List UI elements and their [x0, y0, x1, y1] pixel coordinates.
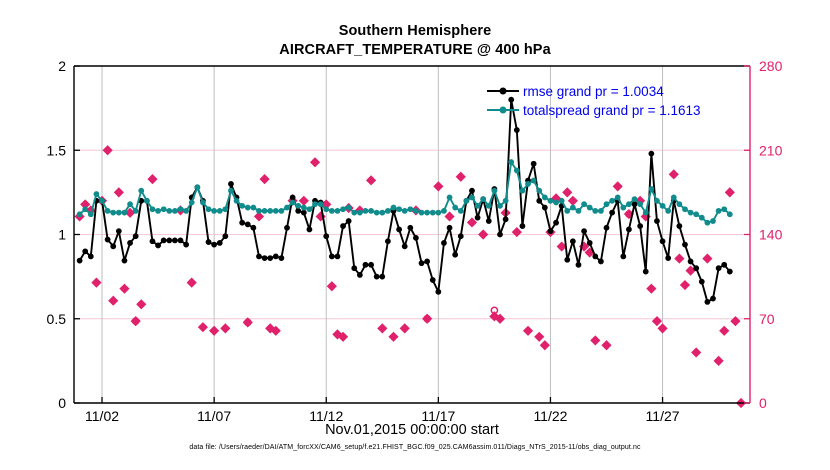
y-tick-label-right: 210 — [759, 142, 783, 158]
series-point-rmse — [514, 127, 519, 132]
series-point-rmse — [688, 259, 693, 264]
series-point-totalspread — [464, 198, 469, 203]
series-point-rmse — [385, 239, 390, 244]
series-point-rmse — [632, 202, 637, 207]
series-point-totalspread — [139, 188, 144, 193]
series-point-totalspread — [122, 210, 127, 215]
obs-marker-assimilated — [120, 285, 128, 293]
series-point-rmse — [666, 255, 671, 260]
series-point-totalspread — [514, 168, 519, 173]
series-point-totalspread — [660, 203, 665, 208]
series-point-rmse — [368, 262, 373, 267]
series-point-totalspread — [228, 188, 233, 193]
series-point-rmse — [340, 223, 345, 228]
series-point-totalspread — [335, 208, 340, 213]
series-point-totalspread — [178, 207, 183, 212]
series-point-totalspread — [576, 208, 581, 213]
series-point-rmse — [581, 229, 586, 234]
series-point-rmse — [553, 220, 558, 225]
series-point-rmse — [127, 240, 132, 245]
series-point-totalspread — [240, 203, 245, 208]
series-point-totalspread — [284, 205, 289, 210]
grid-horizontal — [74, 150, 750, 319]
series-point-totalspread — [419, 210, 424, 215]
series-point-rmse — [122, 258, 127, 263]
obs-marker-assimilated — [378, 324, 386, 332]
series-point-rmse — [576, 262, 581, 267]
x-tick-label: 11/22 — [533, 408, 567, 424]
obs-marker-assimilated — [675, 254, 683, 262]
series-point-rmse — [548, 229, 553, 234]
series-point-totalspread — [475, 203, 480, 208]
series-point-totalspread — [458, 208, 463, 213]
legend: rmse grand pr = 1.0034totalspread grand … — [487, 84, 701, 118]
series-point-rmse — [245, 222, 250, 227]
series-point-rmse — [296, 208, 301, 213]
series-point-rmse — [419, 261, 424, 266]
obs-marker-assimilated — [670, 170, 678, 178]
series-point-totalspread — [195, 185, 200, 190]
obs-marker-assimilated — [569, 197, 577, 205]
obs-marker-assimilated — [311, 158, 319, 166]
series-point-rmse — [654, 218, 659, 223]
series-point-totalspread — [318, 202, 323, 207]
legend-item[interactable]: totalspread grand pr = 1.1613 — [487, 103, 701, 118]
series-point-totalspread — [251, 205, 256, 210]
series-point-rmse — [212, 242, 217, 247]
obs-marker-assimilated — [199, 323, 207, 331]
obs-marker-assimilated — [389, 333, 397, 341]
series-point-totalspread — [324, 207, 329, 212]
y-tick-label-right: 280 — [759, 58, 783, 74]
series-point-totalspread — [212, 208, 217, 213]
series-point-totalspread — [200, 200, 205, 205]
series-point-totalspread — [301, 205, 306, 210]
obs-marker-assimilated — [479, 230, 487, 238]
series-point-totalspread — [441, 208, 446, 213]
series-point-rmse — [430, 277, 435, 282]
series-point-totalspread — [312, 202, 317, 207]
series-point-rmse — [397, 227, 402, 232]
series-point-rmse — [643, 269, 648, 274]
series-point-totalspread — [537, 188, 542, 193]
obs-marker-assimilated — [457, 173, 465, 181]
series-point-rmse — [256, 254, 261, 259]
series-point-rmse — [240, 220, 245, 225]
series-point-totalspread — [368, 208, 373, 213]
series-point-totalspread — [677, 202, 682, 207]
series-point-rmse — [83, 249, 88, 254]
series-point-totalspread — [155, 208, 160, 213]
obs-marker-assimilated — [92, 279, 100, 287]
series-point-totalspread — [217, 208, 222, 213]
series-point-rmse — [172, 238, 177, 243]
series-point-totalspread — [307, 207, 312, 212]
series-point-rmse — [570, 239, 575, 244]
y-tick-label-left: 2 — [58, 58, 66, 74]
series-point-rmse — [542, 205, 547, 210]
series-point-totalspread — [262, 208, 267, 213]
series-point-rmse — [503, 217, 508, 222]
series-point-rmse — [251, 225, 256, 230]
series-point-totalspread — [598, 208, 603, 213]
series-point-totalspread — [161, 207, 166, 212]
series-point-totalspread — [481, 197, 486, 202]
obs-marker-assimilated — [434, 182, 442, 190]
x-tick-label: 11/07 — [197, 408, 231, 424]
series-point-totalspread — [548, 198, 553, 203]
series-point-rmse — [520, 223, 525, 228]
series-point-rmse — [206, 239, 211, 244]
series-point-rmse — [408, 225, 413, 230]
legend-item[interactable]: rmse grand pr = 1.0034 — [487, 84, 664, 99]
series-point-rmse — [374, 274, 379, 279]
series-point-totalspread — [94, 191, 99, 196]
series-point-rmse — [604, 225, 609, 230]
y-tick-label-left: 0.5 — [47, 311, 67, 327]
obs-marker-assimilated — [445, 212, 453, 220]
series-point-rmse — [301, 210, 306, 215]
series-point-rmse — [727, 269, 732, 274]
series-point-rmse — [329, 254, 334, 259]
series-point-rmse — [262, 255, 267, 260]
series-point-rmse — [610, 210, 615, 215]
series-point-rmse — [593, 254, 598, 259]
series-point-totalspread — [105, 208, 110, 213]
series-point-totalspread — [469, 195, 474, 200]
obs-marker-assimilated — [658, 324, 666, 332]
series-point-totalspread — [626, 202, 631, 207]
series-point-totalspread — [497, 203, 502, 208]
x-tick-label: 11/17 — [421, 408, 455, 424]
obs-marker-assimilated — [558, 242, 566, 250]
series-point-totalspread — [671, 195, 676, 200]
series-point-rmse — [453, 252, 458, 257]
obs-marker-assimilated — [726, 188, 734, 196]
series-point-totalspread — [77, 212, 82, 217]
series-point-totalspread — [374, 210, 379, 215]
series-point-totalspread — [553, 200, 558, 205]
series-point-rmse — [486, 218, 491, 223]
series-point-totalspread — [694, 212, 699, 217]
obs-marker-assimilated — [591, 336, 599, 344]
series-point-totalspread — [699, 215, 704, 220]
series-point-totalspread — [621, 205, 626, 210]
series-point-rmse — [425, 259, 430, 264]
legend-swatch-marker — [500, 88, 506, 94]
series-point-totalspread — [296, 203, 301, 208]
series-point-rmse — [346, 218, 351, 223]
obs-marker-assimilated — [260, 175, 268, 183]
series-point-totalspread — [133, 208, 138, 213]
x-axis-ticks: 11/0211/0711/1211/1711/2211/27 — [85, 397, 680, 424]
series-point-totalspread — [83, 207, 88, 212]
series-point-totalspread — [654, 198, 659, 203]
series-point-totalspread — [447, 195, 452, 200]
obs-marker-assimilated — [221, 324, 229, 332]
series-point-rmse — [402, 244, 407, 249]
obs-marker-assimilated — [681, 281, 689, 289]
y-tick-label-left: 1.5 — [47, 142, 67, 158]
series-point-rmse — [537, 198, 542, 203]
series-point-rmse — [626, 227, 631, 232]
series-point-rmse — [660, 239, 665, 244]
series-point-rmse — [161, 238, 166, 243]
series-point-totalspread — [290, 200, 295, 205]
obs-marker-assimilated — [692, 348, 700, 356]
series-point-rmse — [357, 272, 362, 277]
obs-marker-assimilated — [104, 146, 112, 154]
series-point-rmse — [682, 242, 687, 247]
series-point-totalspread — [184, 208, 189, 213]
obs-marker-assimilated — [367, 176, 375, 184]
series-point-rmse — [699, 279, 704, 284]
series-point-rmse — [598, 259, 603, 264]
obs-marker-assimilated — [300, 197, 308, 205]
series-point-rmse — [380, 274, 385, 279]
obs-marker-assimilated — [137, 300, 145, 308]
series-point-rmse — [475, 215, 480, 220]
y-tick-label-right: 140 — [759, 227, 783, 243]
series-point-totalspread — [610, 198, 615, 203]
series-point-totalspread — [425, 210, 430, 215]
series-point-totalspread — [111, 210, 116, 215]
series-point-rmse — [705, 299, 710, 304]
series-point-rmse — [565, 257, 570, 262]
series-point-totalspread — [615, 195, 620, 200]
series-point-totalspread — [666, 208, 671, 213]
series-point-totalspread — [632, 197, 637, 202]
series-point-totalspread — [346, 205, 351, 210]
obs-marker-assimilated — [210, 327, 218, 335]
series-point-totalspread — [268, 208, 273, 213]
obs-marker-assimilated — [188, 279, 196, 287]
series-point-totalspread — [380, 210, 385, 215]
series-point-totalspread — [503, 198, 508, 203]
series-point-rmse — [284, 225, 289, 230]
x-tick-label: 11/02 — [85, 408, 119, 424]
y-tick-label-left: 0 — [58, 395, 66, 411]
series-point-rmse — [279, 255, 284, 260]
series-point-rmse — [324, 234, 329, 239]
series-point-totalspread — [408, 207, 413, 212]
series-point-totalspread — [688, 210, 693, 215]
series-point-totalspread — [722, 207, 727, 212]
series-point-totalspread — [329, 208, 334, 213]
series-point-totalspread — [245, 205, 250, 210]
obs-marker-assimilated — [148, 175, 156, 183]
series-point-rmse — [228, 181, 233, 186]
obs-marker-assimilated — [524, 327, 532, 335]
y-axis-ticks-left: 00.511.52 — [47, 58, 80, 411]
series-point-totalspread — [206, 207, 211, 212]
series-point-totalspread — [234, 198, 239, 203]
obs-assimilated-markers — [76, 146, 746, 407]
series-totalspread — [77, 159, 732, 225]
series-point-totalspread — [453, 205, 458, 210]
series-point-totalspread — [88, 212, 93, 217]
series-point-rmse — [649, 151, 654, 156]
obs-marker-assimilated — [715, 357, 723, 365]
series-point-totalspread — [525, 181, 530, 186]
series-point-totalspread — [430, 210, 435, 215]
series-point-rmse — [150, 239, 155, 244]
series-point-totalspread — [223, 207, 228, 212]
series-point-rmse — [77, 258, 82, 263]
series-point-rmse — [458, 234, 463, 239]
series-point-rmse — [638, 223, 643, 228]
series-point-rmse — [710, 296, 715, 301]
series-point-rmse — [352, 266, 357, 271]
obs-marker-assimilated — [109, 297, 117, 305]
series-point-rmse — [716, 266, 721, 271]
obs-marker-assimilated — [602, 341, 610, 349]
series-point-rmse — [290, 195, 295, 200]
series-point-rmse — [116, 229, 121, 234]
series-point-totalspread — [256, 208, 261, 213]
obs-marker-assimilated — [720, 327, 728, 335]
obs-marker-assimilated — [647, 285, 655, 293]
y-tick-label-left: 1 — [58, 227, 66, 243]
series-point-totalspread — [705, 220, 710, 225]
legend-label: totalspread grand pr = 1.1613 — [523, 103, 701, 118]
series-point-totalspread — [363, 208, 368, 213]
series-point-rmse — [178, 238, 183, 243]
obs-marker-assimilated — [535, 333, 543, 341]
series-point-totalspread — [486, 203, 491, 208]
series-point-totalspread — [604, 202, 609, 207]
obs-marker-assimilated — [563, 188, 571, 196]
series-point-rmse — [133, 234, 138, 239]
series-point-rmse — [167, 238, 172, 243]
series-point-rmse — [621, 254, 626, 259]
series-point-totalspread — [643, 210, 648, 215]
y-tick-label-right: 0 — [759, 395, 767, 411]
series-point-totalspread — [436, 210, 441, 215]
obs-marker-assimilated — [468, 218, 476, 226]
series-point-rmse — [469, 188, 474, 193]
series-point-rmse — [184, 242, 189, 247]
series-point-totalspread — [581, 202, 586, 207]
series-point-totalspread — [352, 210, 357, 215]
series-point-totalspread — [127, 202, 132, 207]
obs-marker-assimilated — [401, 324, 409, 332]
series-point-totalspread — [144, 198, 149, 203]
series-point-rmse — [722, 262, 727, 267]
series-point-totalspread — [638, 202, 643, 207]
series-point-totalspread — [167, 208, 172, 213]
series-point-rmse — [587, 240, 592, 245]
series-point-rmse — [223, 234, 228, 239]
series-point-totalspread — [385, 208, 390, 213]
series-point-totalspread — [391, 205, 396, 210]
series-point-totalspread — [520, 188, 525, 193]
series-point-totalspread — [279, 208, 284, 213]
x-tick-label: 11/27 — [646, 408, 680, 424]
obs-marker-assimilated — [541, 341, 549, 349]
series-point-rmse — [111, 244, 116, 249]
series-point-rmse — [497, 232, 502, 237]
series-point-rmse — [105, 237, 110, 242]
series-point-rmse — [88, 254, 93, 259]
series-point-totalspread — [357, 210, 362, 215]
series-point-rmse — [413, 235, 418, 240]
series-point-rmse — [694, 266, 699, 271]
series-point-totalspread — [531, 178, 536, 183]
series-point-totalspread — [492, 188, 497, 193]
series-point-totalspread — [413, 208, 418, 213]
x-tick-label: 11/12 — [309, 408, 343, 424]
obs-marker-assimilated — [614, 182, 622, 190]
series-point-totalspread — [340, 207, 345, 212]
legend-swatch-marker — [500, 107, 506, 113]
y-tick-label-right: 70 — [759, 311, 775, 327]
series-point-rmse — [509, 97, 514, 102]
obs-marker-assimilated — [703, 254, 711, 262]
series-point-rmse — [268, 255, 273, 260]
series-point-rmse — [677, 223, 682, 228]
series-point-totalspread — [542, 195, 547, 200]
series-point-totalspread — [682, 207, 687, 212]
obs-marker-assimilated — [328, 282, 336, 290]
series-point-totalspread — [150, 207, 155, 212]
series-point-totalspread — [587, 205, 592, 210]
obs-marker-assimilated — [115, 188, 123, 196]
series-point-totalspread — [116, 210, 121, 215]
series-point-totalspread — [397, 207, 402, 212]
series-point-totalspread — [189, 200, 194, 205]
series-point-totalspread — [716, 208, 721, 213]
series-point-totalspread — [99, 198, 104, 203]
series-point-totalspread — [172, 208, 177, 213]
series-point-totalspread — [509, 159, 514, 164]
series-point-totalspread — [273, 208, 278, 213]
series-point-rmse — [217, 240, 222, 245]
series-point-totalspread — [710, 218, 715, 223]
series-point-totalspread — [565, 208, 570, 213]
series-point-rmse — [447, 225, 452, 230]
series-point-rmse — [155, 243, 160, 248]
series-point-totalspread — [570, 205, 575, 210]
series-point-totalspread — [559, 198, 564, 203]
series-point-rmse — [363, 262, 368, 267]
series-point-totalspread — [402, 208, 407, 213]
series-point-rmse — [307, 227, 312, 232]
chart-canvas: 00.511.5207014021028011/0211/0711/1211/1… — [0, 0, 830, 470]
series-point-totalspread — [593, 208, 598, 213]
legend-label: rmse grand pr = 1.0034 — [523, 84, 664, 99]
series-point-rmse — [441, 240, 446, 245]
figure-window: Southern Hemisphere AIRCRAFT_TEMPERATURE… — [0, 0, 830, 470]
series-point-totalspread — [727, 212, 732, 217]
series-point-rmse — [273, 254, 278, 259]
series-point-rmse — [335, 254, 340, 259]
series-point-rmse — [436, 289, 441, 294]
series-point-totalspread — [649, 186, 654, 191]
series-point-rmse — [531, 161, 536, 166]
